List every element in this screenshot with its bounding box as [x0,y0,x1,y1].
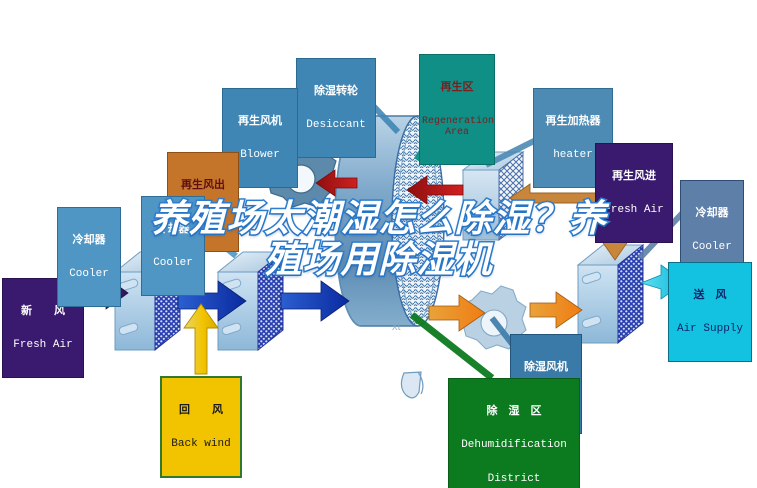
label-dehumidification-district-en1: Dehumidification [451,440,577,452]
label-dehumidification-district-en2: District [451,474,577,486]
svg-text:xt: xt [392,321,401,333]
back-wind-arrow [184,304,218,374]
label-back-wind-en: Back wind [164,439,238,451]
process-arrow-2 [281,281,349,321]
label-back-wind: 回 风 Back wind [160,376,242,478]
label-regeneration-area-en: Regeneration Area [422,116,492,138]
label-desiccant-wheel-cn: 除湿转轮 [299,85,373,97]
label-air-supply-en: Air Supply [671,324,749,336]
label-desiccant-wheel-en: Desiccant [299,120,373,132]
label-regeneration-heater-cn: 再生加热器 [536,115,610,127]
label-dehumidification-district: 除 湿 区 Dehumidification District [448,378,580,488]
label-desiccant-wheel: 除湿转轮 Desiccant [296,58,376,158]
label-dehumidification-blower-cn: 除湿风机 [513,361,579,373]
dehum-arrow-2 [530,292,582,328]
overlay-title-line2: 殖场用除湿机 [0,239,757,280]
label-air-supply-cn: 送 风 [671,289,749,301]
label-regeneration-area-cn: 再生区 [422,81,492,93]
diagram-canvas: xt [0,0,757,488]
label-fresh-air-inlet-en: Fresh Air [5,340,81,352]
label-regeneration-area: 再生区 Regeneration Area [419,54,495,165]
label-back-wind-cn: 回 风 [164,404,238,416]
label-dehumidification-district-cn: 除 湿 区 [451,405,577,417]
label-regeneration-fresh-air-cn: 再生风进 [598,170,670,182]
overlay-title-line1: 养殖场太潮湿怎么除湿？养 [0,198,757,239]
condensate-duct [401,372,422,398]
overlay-title: 养殖场太潮湿怎么除湿？养 殖场用除湿机 [0,198,757,281]
label-exhaust-cn: 再生风出 [170,179,236,191]
label-regeneration-blower-cn: 再生风机 [225,115,295,127]
